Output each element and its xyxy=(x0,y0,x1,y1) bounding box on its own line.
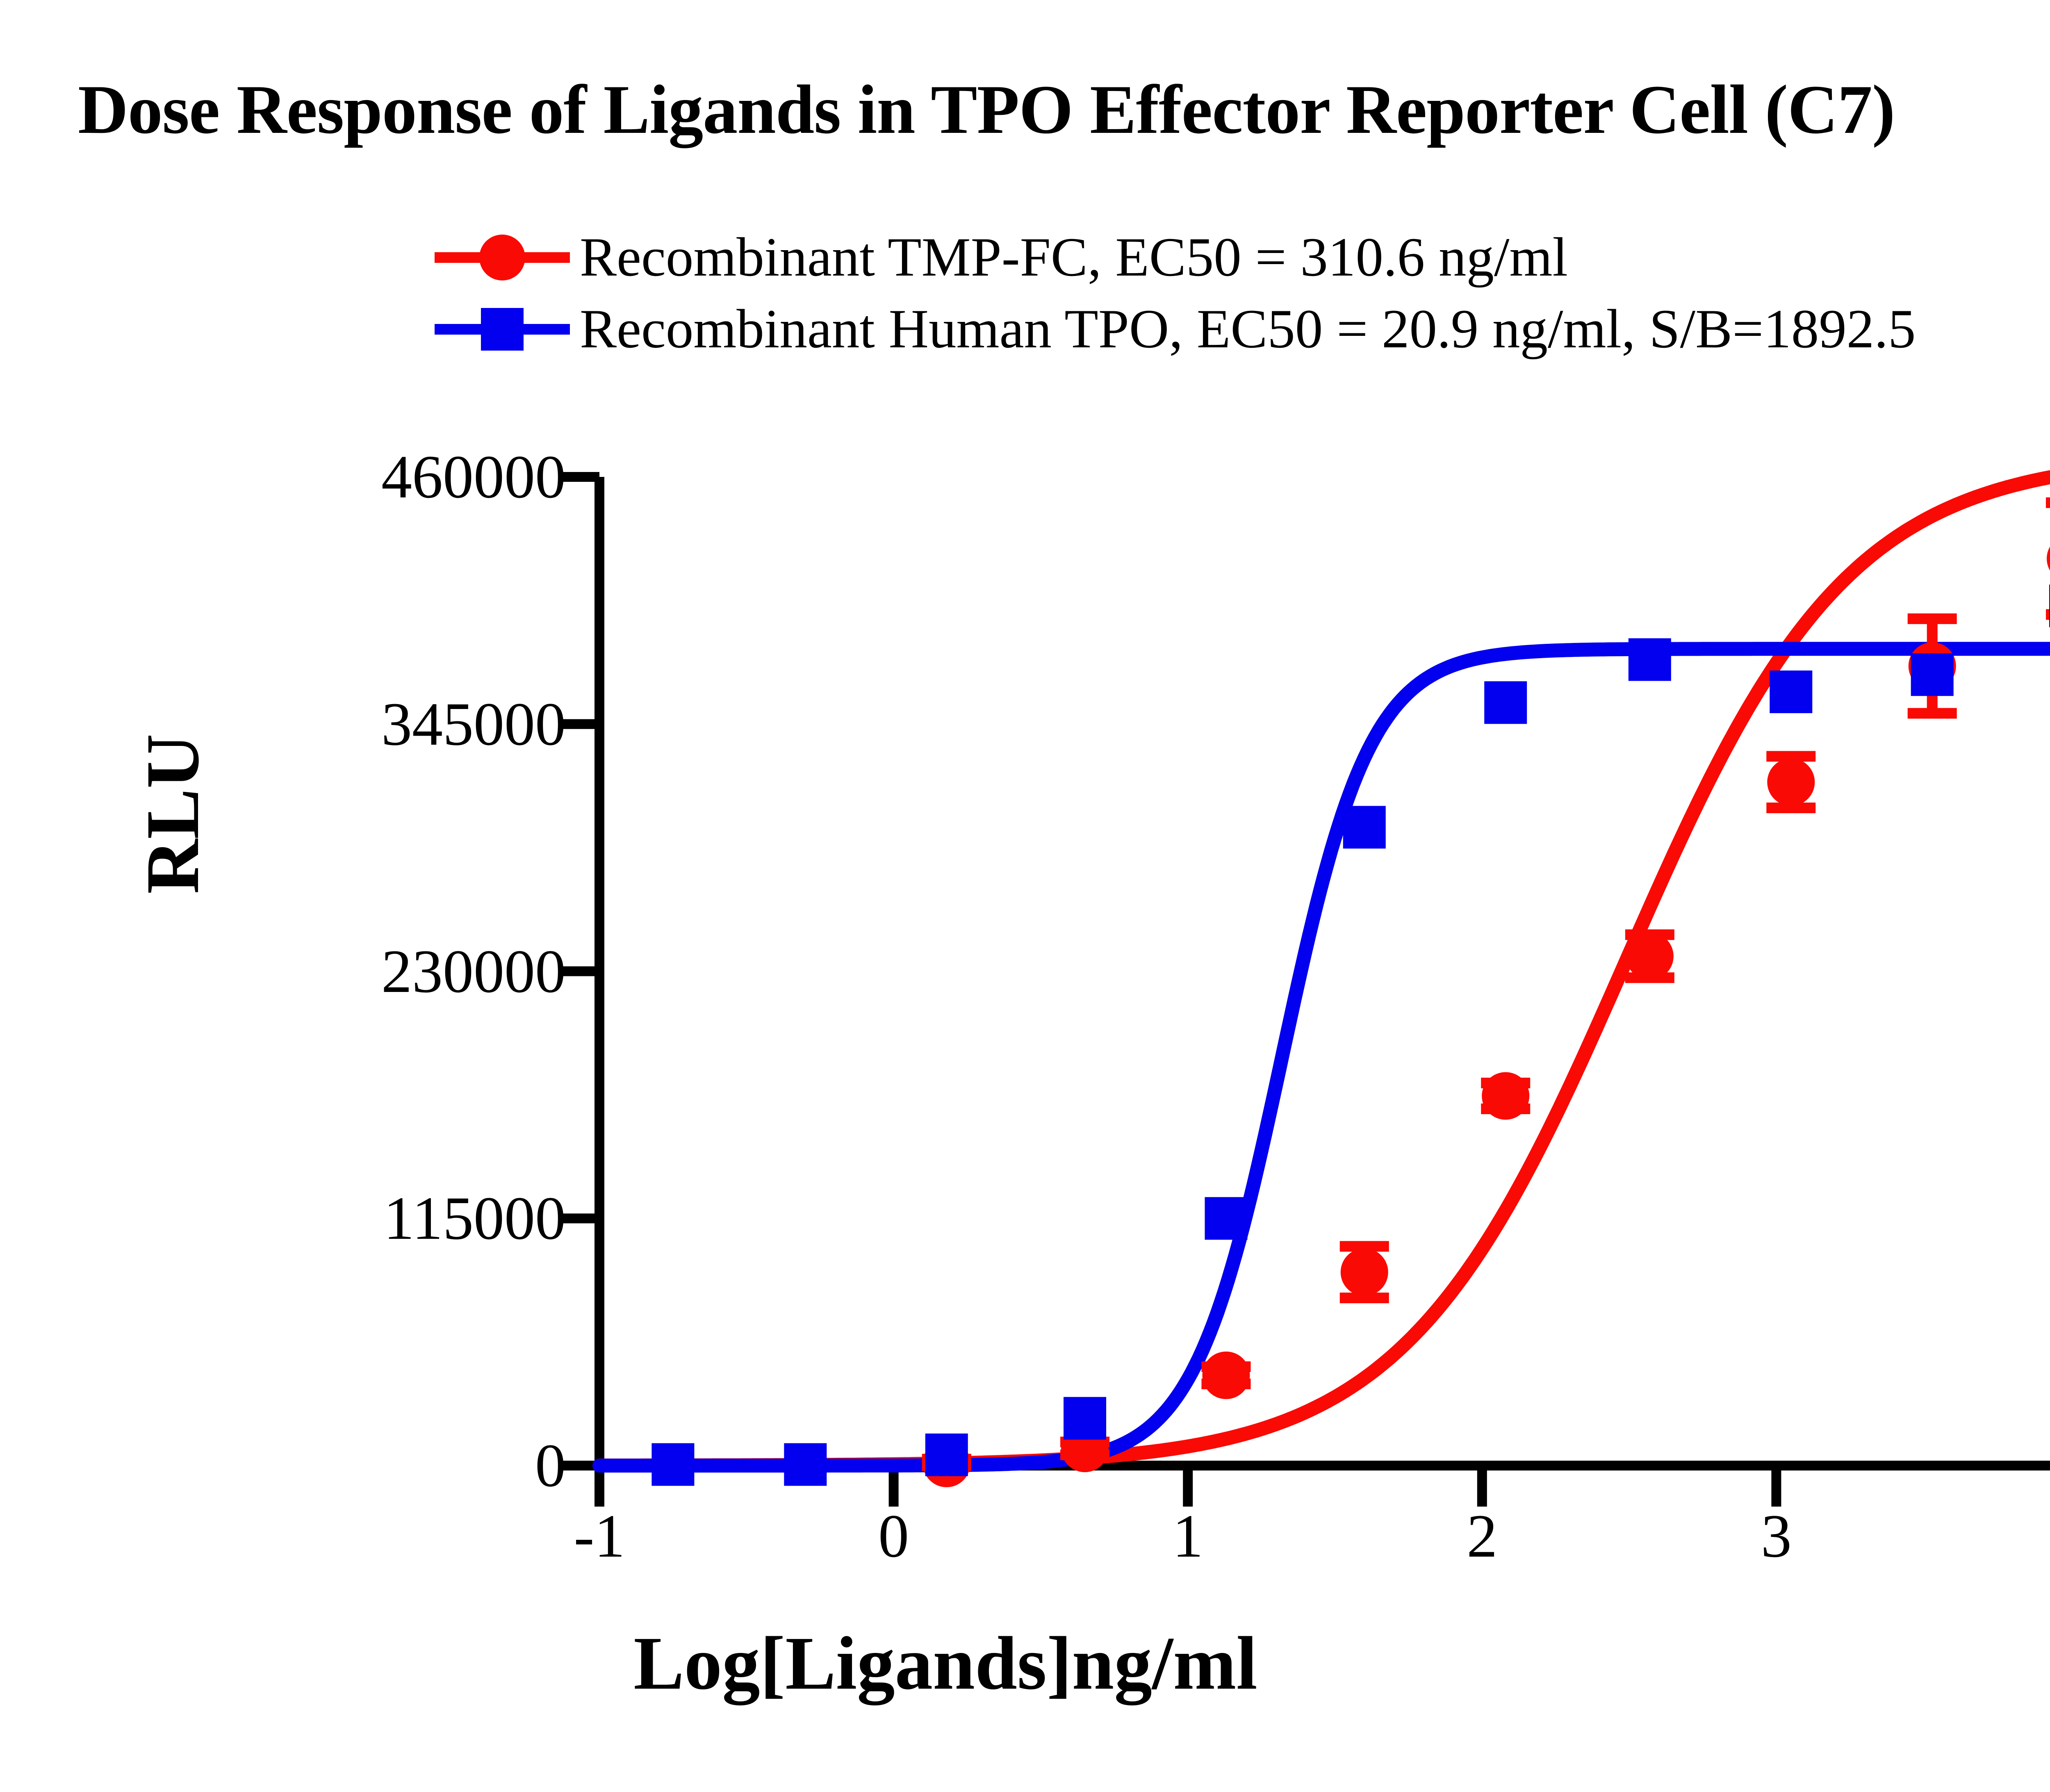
data-point-tmp-fc[interactable] xyxy=(1202,1352,1250,1399)
data-point-tmp-fc[interactable] xyxy=(2047,535,2050,582)
square-marker-icon xyxy=(481,308,524,351)
data-point-human-tpo[interactable] xyxy=(784,1443,827,1486)
data-point-human-tpo[interactable] xyxy=(1629,638,1671,681)
chart-page: Dose Response of Ligands in TPO Effector… xyxy=(0,0,2050,1792)
x-axis-title-text: Log[Ligands]ng/ml xyxy=(633,1621,1257,1705)
data-point-human-tpo[interactable] xyxy=(651,1443,694,1486)
fit-curve-human-tpo xyxy=(599,649,2050,1466)
chart-canvas xyxy=(509,420,2050,1609)
data-point-human-tpo[interactable] xyxy=(1343,806,1386,848)
legend-key-human-tpo xyxy=(435,309,570,350)
circle-marker-icon xyxy=(479,235,525,280)
fit-curve-tmp-fc xyxy=(599,477,2050,1466)
data-point-human-tpo[interactable] xyxy=(1064,1397,1106,1440)
legend-label-human-tpo: Recombinant Human TPO, EC50 = 20.9 ng/ml… xyxy=(570,297,1916,361)
legend-item-tmp-fc[interactable]: Recombinant TMP-FC, EC50 = 310.6 ng/ml xyxy=(435,221,1916,293)
legend-label-tmp-fc: Recombinant TMP-FC, EC50 = 310.6 ng/ml xyxy=(570,226,1568,289)
data-point-tmp-fc[interactable] xyxy=(1341,1248,1388,1296)
plot-area xyxy=(599,477,2050,1466)
legend: Recombinant TMP-FC, EC50 = 310.6 ng/ml R… xyxy=(435,221,1916,365)
data-point-human-tpo[interactable] xyxy=(1911,653,1954,696)
data-point-human-tpo[interactable] xyxy=(1770,670,1812,713)
legend-item-human-tpo[interactable]: Recombinant Human TPO, EC50 = 20.9 ng/ml… xyxy=(435,293,1916,365)
page-title: Dose Response of Ligands in TPO Effector… xyxy=(78,70,1895,150)
data-point-tmp-fc[interactable] xyxy=(1626,932,1674,980)
data-point-tmp-fc[interactable] xyxy=(1767,758,1815,806)
legend-key-tmp-fc xyxy=(435,237,570,278)
data-point-human-tpo[interactable] xyxy=(1484,681,1527,724)
y-axis-title: RLU xyxy=(129,734,216,894)
x-axis-title: Log[Ligands]ng/ml xyxy=(0,1620,2050,1707)
data-point-human-tpo[interactable] xyxy=(1205,1197,1247,1240)
data-point-tmp-fc[interactable] xyxy=(1482,1072,1529,1119)
data-point-human-tpo[interactable] xyxy=(925,1434,968,1476)
